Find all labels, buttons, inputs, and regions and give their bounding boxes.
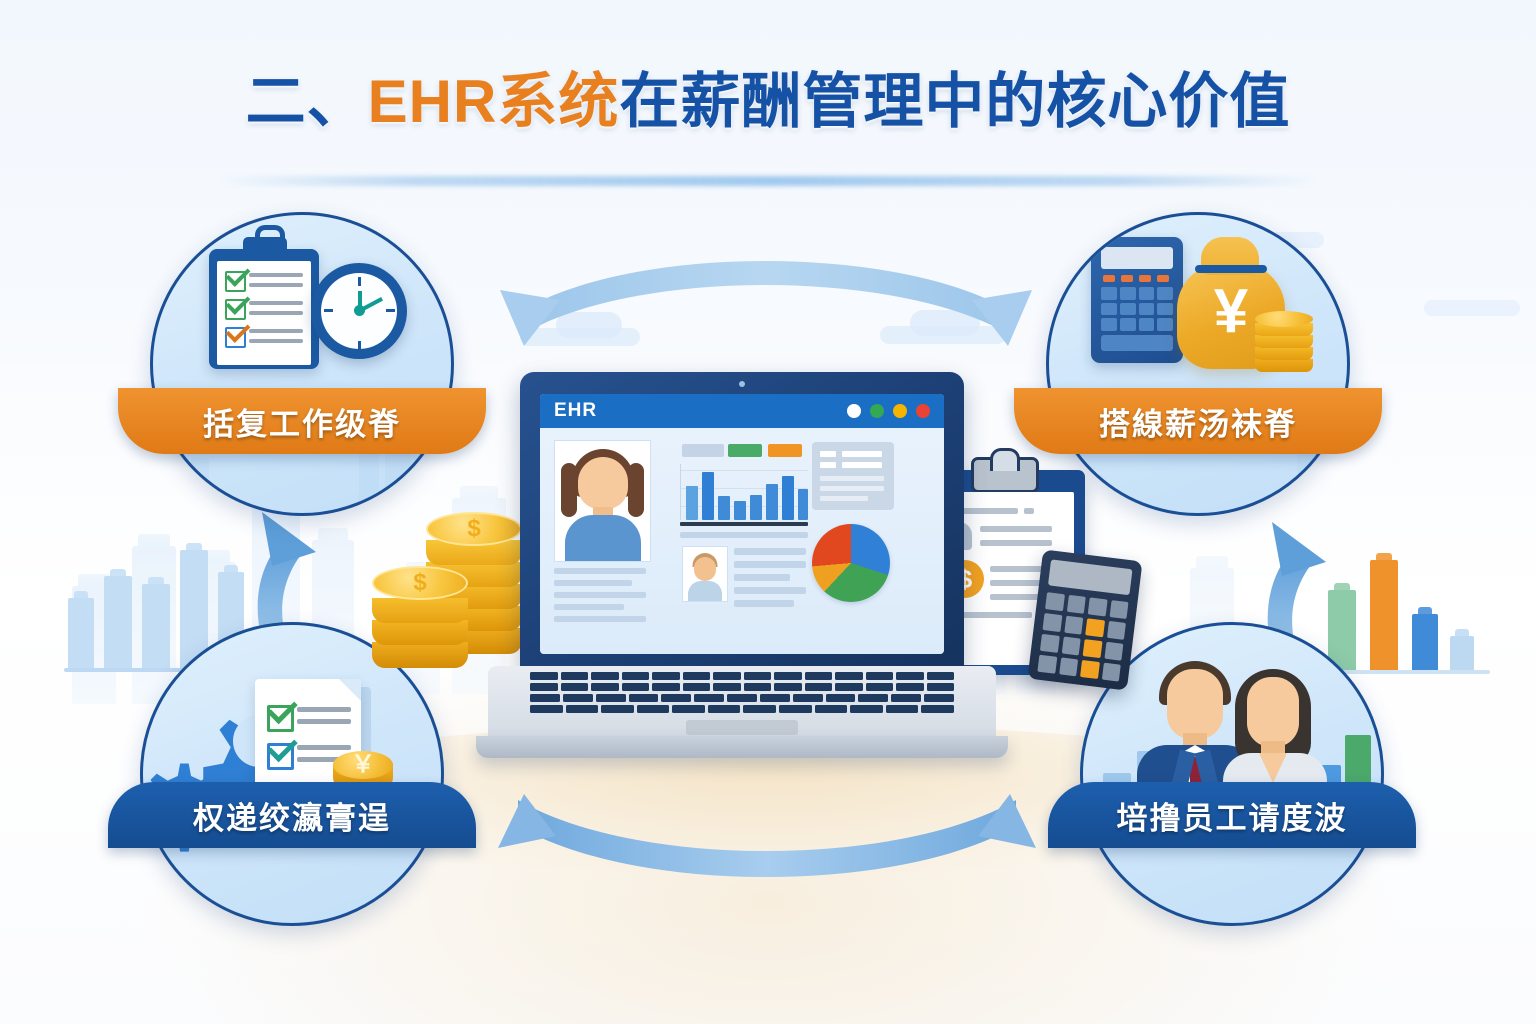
- profile-text-line: [554, 616, 646, 622]
- profile-text-line: [554, 604, 624, 610]
- calculator-keys: [1037, 592, 1128, 681]
- checklist-line: [249, 301, 303, 305]
- dashboard-info-card: [812, 442, 894, 510]
- calculator-indicator: [1157, 275, 1169, 282]
- laptop-device: EHR: [488, 372, 996, 762]
- laptop-base: [488, 666, 996, 762]
- legend-chip-green: [728, 444, 762, 457]
- calculator-device: [1027, 549, 1142, 690]
- window-dots[interactable]: [847, 404, 930, 418]
- coin-symbol: $: [372, 571, 468, 595]
- checklist-line: [249, 329, 303, 333]
- profile-text-line: [554, 592, 646, 598]
- node-disc: ¥: [1046, 212, 1350, 516]
- profile-text-line: [554, 568, 646, 574]
- clock-tick: [324, 309, 333, 312]
- arrow-top-arc: [500, 261, 1032, 346]
- employee-photo-card: [554, 440, 651, 562]
- webcam-icon: [739, 381, 745, 387]
- checklist-line: [249, 339, 303, 343]
- node-banner[interactable]: 括复工作级脊: [118, 388, 486, 454]
- dashboard-text-line: [734, 600, 794, 607]
- chart-axis-line: [680, 522, 808, 526]
- node-banner[interactable]: 搭線薪汤袜脊: [1014, 388, 1382, 454]
- node-label: 培撸员工请度波: [1117, 793, 1348, 838]
- keyboard[interactable]: [530, 672, 954, 716]
- calculator-indicator: [1121, 275, 1133, 282]
- infographic-canvas: 二、EHR系统在薪酬管理中的核心价值: [0, 0, 1536, 1024]
- app-header-bar: EHR: [540, 394, 944, 428]
- profile-text-line: [554, 580, 632, 586]
- clock-tick: [386, 309, 395, 312]
- window-dot-yellow[interactable]: [893, 404, 907, 418]
- node-banner[interactable]: 权递绞瀛膏逞: [108, 782, 476, 848]
- employee-photo-card-small: [682, 546, 728, 602]
- node-top-left[interactable]: 括复工作级脊: [150, 212, 454, 516]
- calculator-display: [1101, 247, 1173, 269]
- arrow-bottom-arc: [498, 794, 1036, 877]
- app-title: EHR: [554, 400, 597, 422]
- money-bag-tie: [1195, 265, 1267, 273]
- clock-tick: [358, 341, 361, 349]
- node-top-right[interactable]: ¥ 搭線薪汤袜脊: [1046, 212, 1350, 516]
- dashboard-bar-chart: [680, 464, 808, 520]
- legend-chip-orange: [768, 444, 802, 457]
- coin-stack-short: $: [372, 566, 468, 676]
- dashboard-text-line: [734, 574, 790, 581]
- trackpad[interactable]: [686, 720, 798, 735]
- calculator-key-wide: [1101, 335, 1173, 351]
- document-line: [297, 745, 351, 750]
- dashboard-text-line: [734, 548, 806, 555]
- avatar-hair-left: [561, 463, 577, 517]
- calculator-indicator: [1139, 275, 1151, 282]
- dashboard-text-line: [734, 561, 806, 568]
- window-dot-white[interactable]: [847, 404, 861, 418]
- calculator-keys: [1101, 287, 1173, 331]
- laptop-screen: EHR: [540, 394, 944, 654]
- avatar-body: [565, 515, 641, 561]
- avatar-hair-right: [628, 463, 644, 517]
- clipboard-ring-icon: [255, 225, 285, 248]
- document-line: [297, 719, 351, 724]
- node-label: 权递绞瀛膏逞: [193, 793, 391, 838]
- coin-symbol: ￥: [333, 753, 393, 777]
- node-banner[interactable]: 培撸员工请度波: [1048, 782, 1416, 848]
- checklist-line: [249, 283, 303, 287]
- node-disc: [150, 212, 454, 516]
- avatar-face: [578, 457, 628, 509]
- node-label: 搭線薪汤袜脊: [1099, 399, 1297, 444]
- dashboard-body: [540, 428, 944, 654]
- laptop-lid: EHR: [520, 372, 964, 672]
- dashboard-text-line: [734, 587, 806, 594]
- dashboard-pie-chart: [812, 524, 890, 602]
- laptop-base-front: [476, 736, 1008, 758]
- coin-stack-icon: [1255, 311, 1313, 373]
- laptop-keyboard-deck: [488, 666, 996, 740]
- node-label: 括复工作级脊: [203, 399, 401, 444]
- checklist-line: [249, 273, 303, 277]
- calculator-indicator: [1103, 275, 1115, 282]
- document-line: [297, 707, 351, 712]
- legend-chip-grey: [682, 444, 724, 457]
- window-dot-red[interactable]: [916, 404, 930, 418]
- checklist-line: [249, 311, 303, 315]
- window-dot-green[interactable]: [870, 404, 884, 418]
- clock-center-dot: [354, 305, 365, 316]
- dashboard-text-line: [680, 532, 808, 538]
- clock-tick: [358, 277, 361, 286]
